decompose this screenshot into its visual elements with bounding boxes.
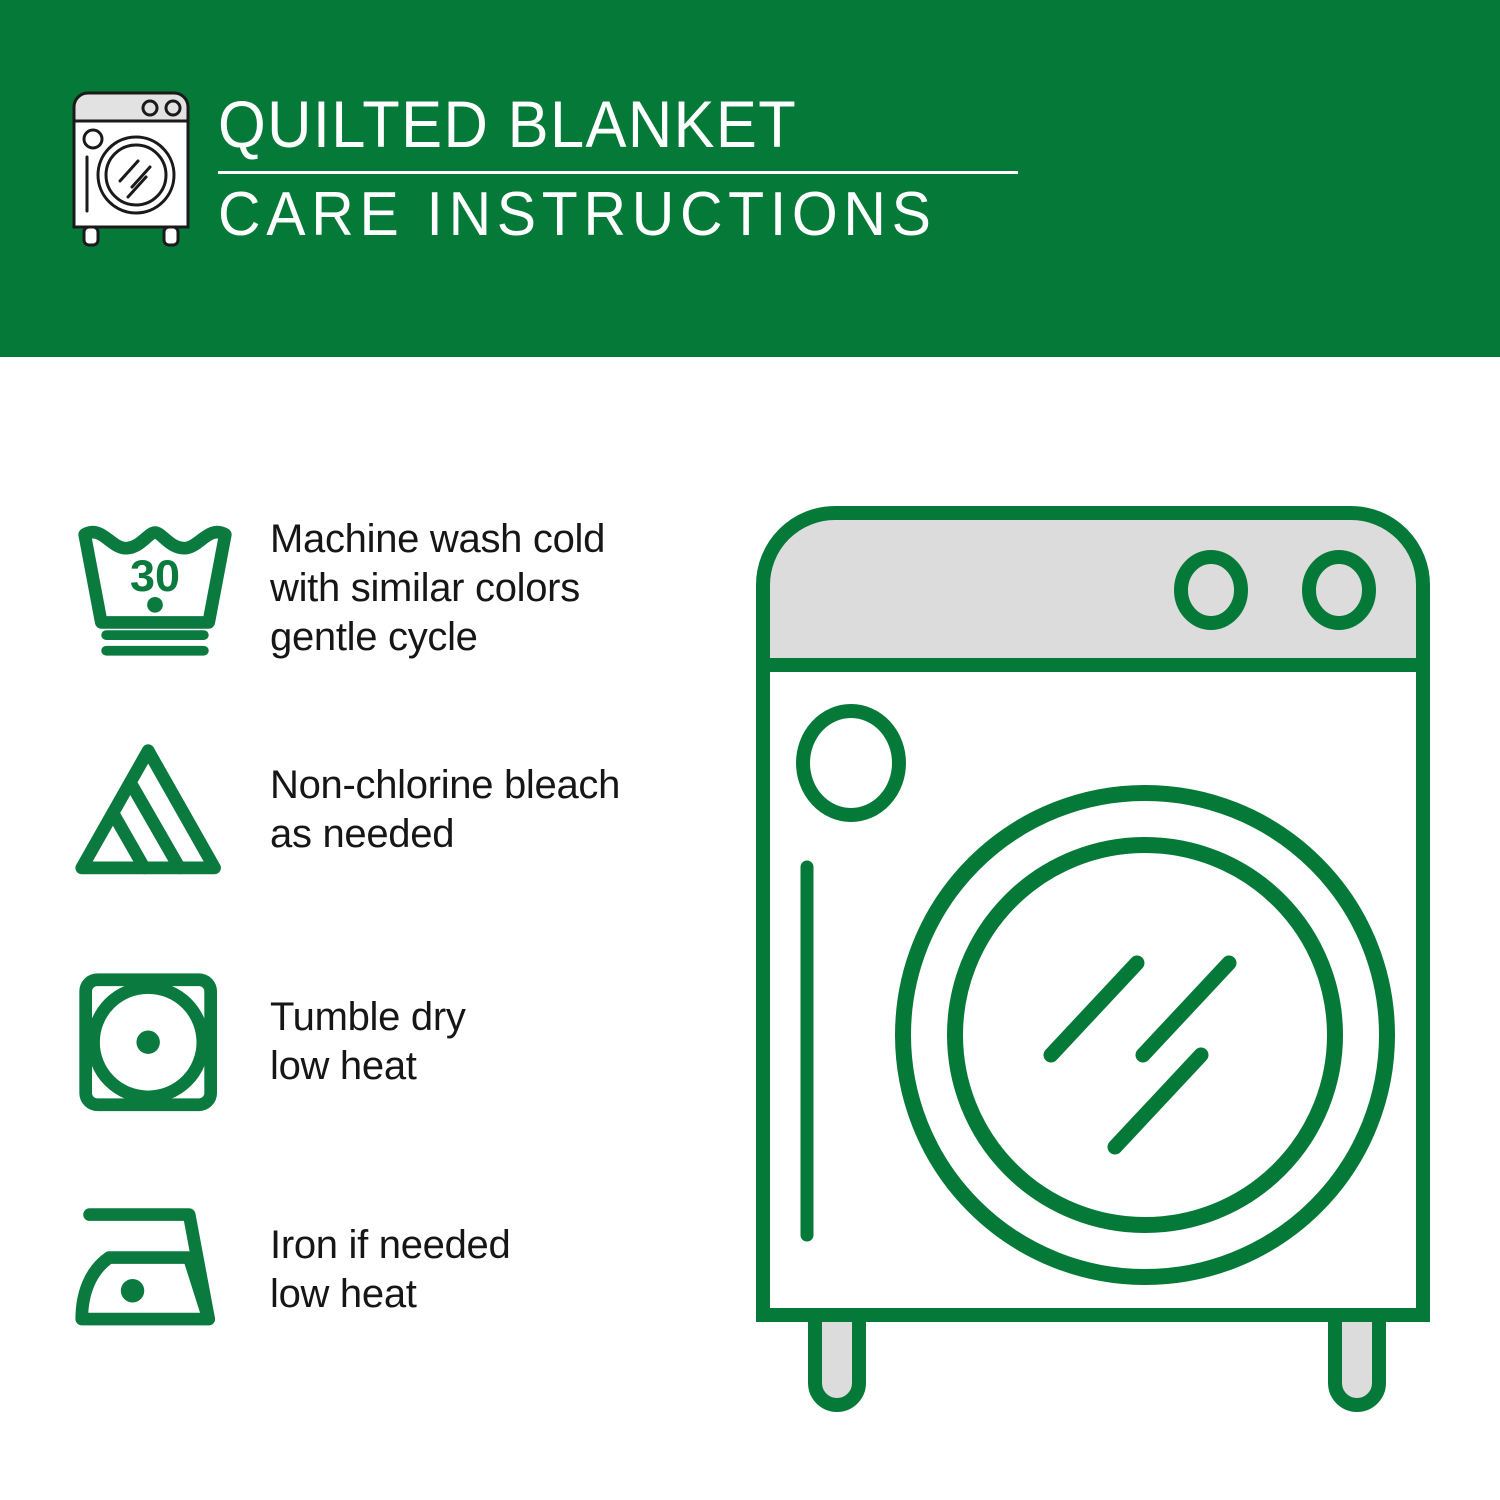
page-title: QUILTED BLANKET: [218, 91, 962, 157]
care-item-label: Non-chlorine bleach as needed: [270, 761, 620, 859]
care-instruction-list: 30 Machine wash cold with similar colors…: [0, 357, 740, 1500]
header-banner: QUILTED BLANKET CARE INSTRUCTIONS: [0, 0, 1500, 357]
wash-tub-icon: 30: [72, 515, 238, 661]
iron-icon: [72, 1197, 238, 1343]
wash-temperature-label: 30: [130, 550, 180, 601]
care-item-iron: Iron if needed low heat: [72, 1197, 510, 1343]
control-knob-right: [1309, 557, 1369, 623]
page-subtitle: CARE INSTRUCTIONS: [218, 184, 978, 246]
machine-leg-right: [1335, 1315, 1379, 1405]
header-title-block: QUILTED BLANKET CARE INSTRUCTIONS: [218, 91, 1018, 246]
care-item-bleach: Non-chlorine bleach as needed: [72, 737, 620, 883]
care-item-tumble-dry: Tumble dry low heat: [72, 969, 466, 1115]
title-divider: [218, 171, 1018, 174]
bleach-triangle-icon: [72, 737, 238, 883]
header-content: QUILTED BLANKET CARE INSTRUCTIONS: [62, 85, 1018, 253]
care-item-label: Tumble dry low heat: [270, 993, 466, 1091]
washing-machine-icon: [62, 85, 200, 253]
care-item-machine-wash: 30 Machine wash cold with similar colors…: [72, 515, 605, 661]
front-load-washing-machine: [745, 495, 1465, 1425]
care-item-label: Iron if needed low heat: [270, 1221, 510, 1319]
machine-leg-left: [815, 1315, 859, 1405]
control-knob-left: [1181, 557, 1241, 623]
care-item-label: Machine wash cold with similar colors ge…: [270, 515, 605, 661]
tumble-dry-icon: [72, 969, 238, 1115]
